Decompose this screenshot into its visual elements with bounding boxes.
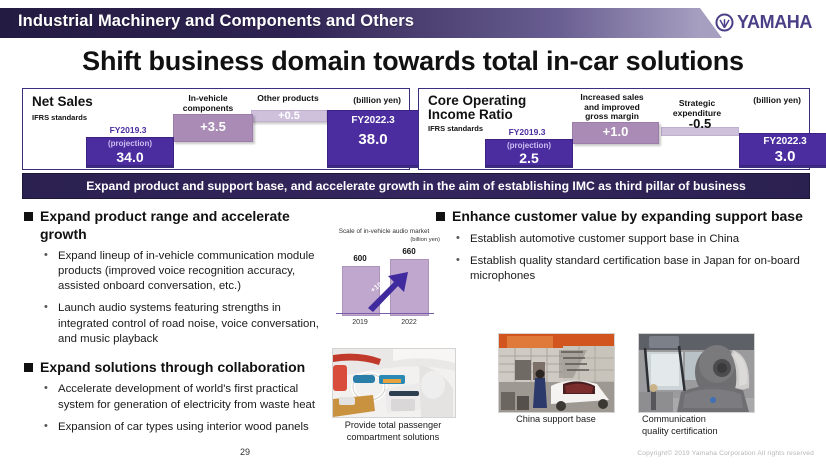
left-heading-1: Expand product range and accelerate grow… bbox=[24, 208, 334, 243]
net-sales-waterfall: In-vehicle components Other products +0.… bbox=[23, 89, 409, 169]
baseline-left-start bbox=[86, 166, 174, 168]
left-content-column: Expand product range and accelerate grow… bbox=[24, 208, 334, 442]
china-support-base-caption: China support base bbox=[498, 414, 614, 426]
strategy-banner-text: Expand product and support base, and acc… bbox=[86, 179, 746, 193]
bar-other-products: +0.5 bbox=[251, 110, 327, 122]
label-fy2019-net-sales: FY2019.3 bbox=[83, 125, 173, 135]
page-title: Industrial Machinery and Components and … bbox=[18, 12, 414, 31]
left-bullet-list-2: Accelerate development of world's first … bbox=[24, 382, 334, 434]
list-item: Establish quality standard certification… bbox=[456, 254, 808, 284]
square-bullet-icon bbox=[24, 212, 33, 221]
slide-root: Industrial Machinery and Components and … bbox=[0, 0, 826, 465]
bar-fy2019-net-sales: (projection) 34.0 bbox=[86, 137, 174, 166]
left-bullet-list-1: Expand lineup of in-vehicle communicatio… bbox=[24, 249, 334, 347]
right-bullet-list-1: Establish automotive customer support ba… bbox=[436, 232, 808, 284]
mini-chart-axis bbox=[336, 313, 434, 314]
label-fy2019-core-operating: FY2019.3 bbox=[481, 127, 573, 137]
baseline-left-end bbox=[327, 166, 419, 168]
copyright-text: Copyright© 2019 Yamaha Corporation All r… bbox=[637, 450, 814, 457]
slide-headline: Shift business domain towards total in-c… bbox=[0, 46, 826, 77]
mini-xtick-2019: 2019 bbox=[338, 319, 382, 326]
left-heading-2: Expand solutions through collaboration bbox=[24, 359, 334, 377]
mini-bar-value-2022: 660 bbox=[386, 247, 432, 256]
yamaha-tuning-forks-icon bbox=[715, 13, 734, 32]
mini-chart-unit: (billion yen) bbox=[328, 237, 440, 243]
right-heading-1: Enhance customer value by expanding supp… bbox=[436, 208, 808, 226]
communication-quality-certification-photo bbox=[638, 333, 755, 413]
logo-text: YAMAHA bbox=[737, 12, 812, 33]
square-bullet-icon bbox=[24, 363, 33, 372]
step-label-increased-sales: Increased sales and improved gross margi… bbox=[567, 93, 657, 122]
net-sales-panel: Net Sales IFRS standards (billion yen) I… bbox=[22, 88, 410, 170]
china-support-base-image bbox=[499, 334, 614, 412]
step-label-other-products: Other products bbox=[247, 94, 329, 104]
list-item: Accelerate development of world's first … bbox=[44, 382, 334, 412]
strategy-banner: Expand product and support base, and acc… bbox=[22, 173, 810, 199]
baseline-right-start bbox=[485, 166, 573, 168]
page-number: 29 bbox=[0, 447, 490, 457]
core-operating-waterfall: Increased sales and improved gross margi… bbox=[419, 89, 809, 169]
mini-bar-value-2019: 600 bbox=[338, 254, 382, 263]
growth-arrow: +10% bbox=[364, 268, 414, 312]
bar-fy2019-core-operating: (projection) 2.5 bbox=[485, 139, 573, 166]
car-interior-image bbox=[333, 349, 455, 417]
baseline-right-end bbox=[739, 166, 826, 168]
mini-chart-title: Scale of in-vehicle audio market bbox=[328, 228, 440, 235]
header: Industrial Machinery and Components and … bbox=[0, 8, 826, 38]
list-item: Expand lineup of in-vehicle communicatio… bbox=[44, 249, 334, 294]
bar-in-vehicle-components: +3.5 bbox=[173, 114, 253, 142]
bar-increased-sales: +1.0 bbox=[572, 122, 659, 144]
list-item: Establish automotive customer support ba… bbox=[456, 232, 808, 247]
core-operating-income-panel: Core Operating Income Ratio IFRS standar… bbox=[418, 88, 810, 170]
car-interior-photo bbox=[332, 348, 456, 418]
china-support-base-photo bbox=[498, 333, 615, 413]
list-item: Launch audio systems featuring strengths… bbox=[44, 301, 334, 346]
bar-strategic-expenditure: -0.5 bbox=[661, 127, 739, 136]
step-label-in-vehicle: In-vehicle components bbox=[169, 94, 247, 113]
bar-fy2022-net-sales: FY2022.3 38.0 bbox=[327, 110, 419, 166]
yamaha-logo: YAMAHA bbox=[715, 12, 812, 33]
communication-quality-certification-image bbox=[639, 334, 754, 412]
mini-xtick-2022: 2022 bbox=[386, 319, 432, 326]
in-vehicle-audio-market-chart: Scale of in-vehicle audio market (billio… bbox=[328, 228, 440, 328]
right-content-column: Enhance customer value by expanding supp… bbox=[436, 208, 808, 291]
list-item: Expansion of car types using interior wo… bbox=[44, 420, 334, 435]
bar-fy2022-core-operating: FY2022.3 3.0 bbox=[739, 133, 826, 166]
square-bullet-icon bbox=[436, 212, 445, 221]
